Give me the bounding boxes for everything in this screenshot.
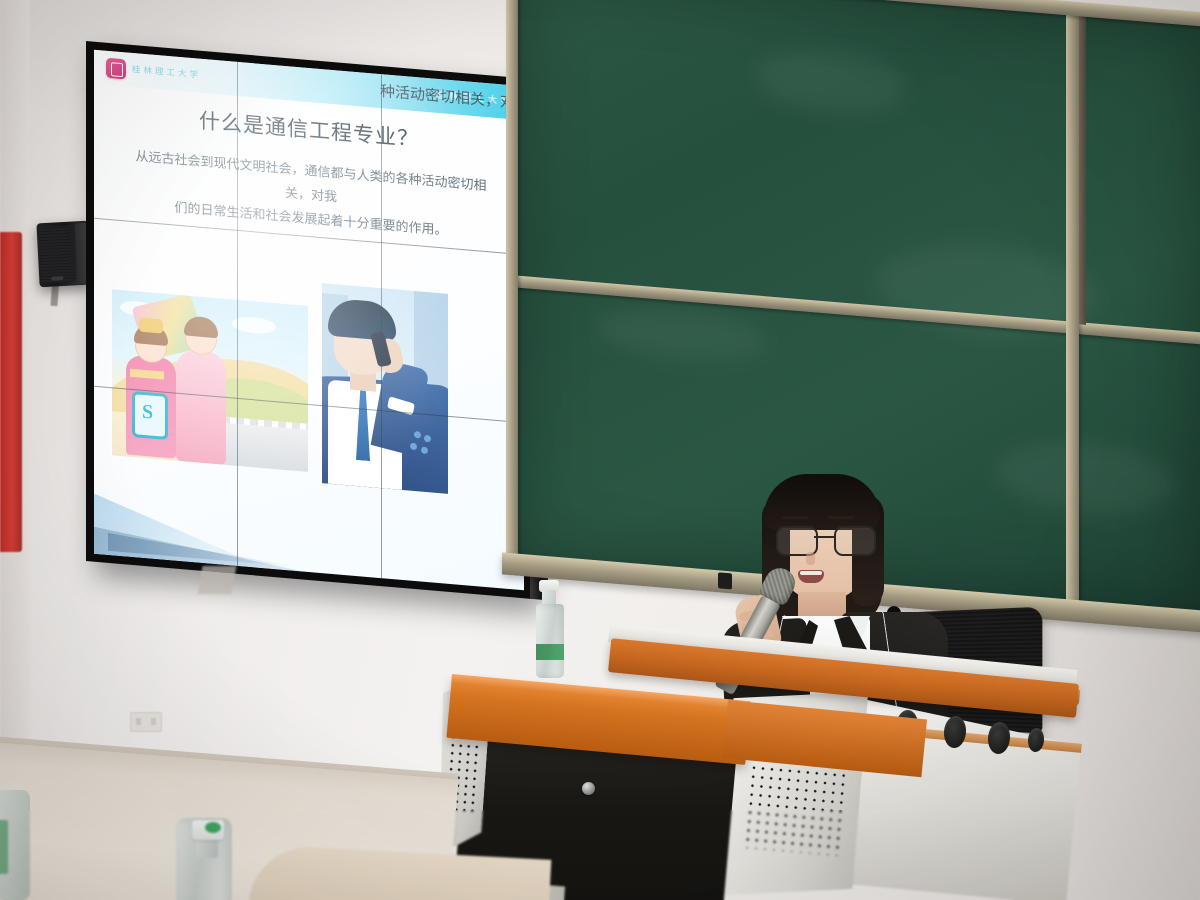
cabinet-lock-icon [582, 782, 595, 795]
board-divider-rail [1066, 11, 1079, 602]
mouth [798, 570, 824, 583]
sleeve-button [414, 431, 421, 439]
water-bottle-on-lectern [536, 604, 564, 678]
board-left-edge [506, 0, 518, 566]
figure-hat [139, 318, 163, 334]
wall-speaker-icon [36, 221, 91, 288]
hair-fringe [764, 474, 880, 530]
figure-robe [176, 349, 226, 465]
foreground-bottle-cap [192, 820, 224, 840]
eyebrow [782, 516, 808, 519]
video-wall-mount [198, 566, 237, 594]
bottle-label [536, 644, 564, 660]
university-logo-icon [106, 58, 126, 80]
chalk-smudge [596, 302, 766, 366]
hair [328, 298, 396, 342]
sleeve-button [424, 435, 431, 443]
foreground-bottle-left [0, 790, 30, 900]
eyeglasses-icon [776, 526, 872, 552]
lectern [432, 616, 1100, 900]
panel-seam [237, 62, 238, 566]
chalk-smudge [756, 45, 906, 117]
cloud-shape [232, 315, 276, 335]
presentation-slide: 桂林理工大学 桂林理工大学 什么是通信工程专业？ 从远古社会到现代文明社会，通信… [94, 50, 524, 591]
ancient-figures-illustration [112, 289, 308, 472]
sleeve-button [421, 447, 428, 455]
speaker-badge [51, 276, 63, 281]
figure-hair [184, 315, 218, 338]
speaker-grille [40, 225, 77, 283]
led-video-wall: 桂林理工大学 桂林理工大学 什么是通信工程专业？ 从远古社会到现代文明社会，通信… [86, 41, 532, 599]
panel-seam [381, 74, 382, 578]
sleeve-button [410, 443, 417, 451]
board-divider-shadow [1079, 12, 1086, 325]
glasses-bridge [814, 536, 834, 538]
glasses-lens-right [834, 526, 876, 556]
businessman-photo [322, 283, 448, 494]
eyebrow [828, 516, 854, 519]
slide-body-text: 从远古社会到现代文明社会，通信都与人类的各种活动密切相关，对我 们的日常生活和社… [128, 145, 494, 248]
nose [806, 552, 815, 565]
power-outlet-icon [130, 712, 162, 732]
classroom-scene: 桂林理工大学 桂林理工大学 什么是通信工程专业？ 从远古社会到现代文明社会，通信… [0, 0, 1200, 900]
figure-badge [132, 391, 168, 440]
red-wall-panel [0, 232, 22, 552]
chalk-smudge [996, 435, 1176, 520]
